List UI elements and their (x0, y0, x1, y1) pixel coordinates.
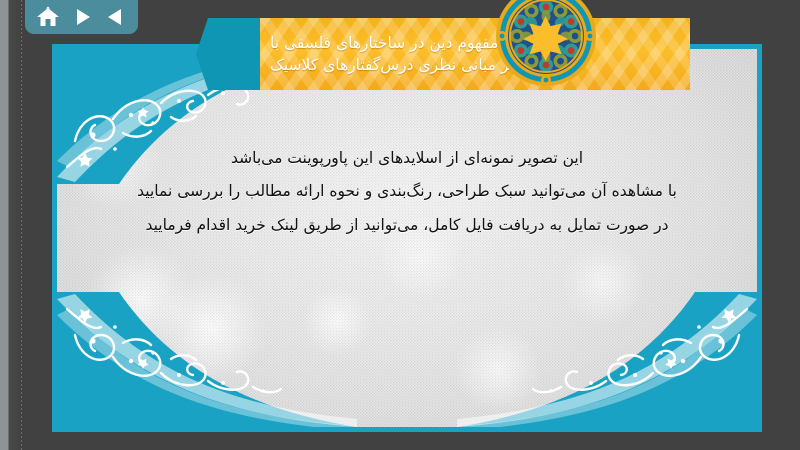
home-icon (36, 6, 60, 28)
frame-divider (21, 0, 22, 450)
body-line-3: در صورت تمایل به دریافت فایل کامل، می‌تو… (145, 211, 668, 240)
arabesque-bottom-left (57, 292, 357, 427)
triangle-right-icon (72, 8, 92, 26)
body-line-1: این تصویر نمونه‌ای از اسلایدهای این پاور… (231, 144, 583, 173)
frame-left-edge (0, 0, 22, 450)
previous-slide-button[interactable] (101, 4, 129, 30)
slide-canvas: این تصویر نمونه‌ای از اسلایدهای این پاور… (57, 49, 757, 427)
slide-body-text: این تصویر نمونه‌ای از اسلایدهای این پاور… (87, 144, 727, 240)
triangle-left-icon (105, 8, 125, 26)
slide-card: این تصویر نمونه‌ای از اسلایدهای این پاور… (52, 44, 762, 432)
arabesque-bottom-right (457, 292, 757, 427)
navigation-bar (25, 0, 138, 34)
title-banner-group: تحلیل مفهوم دین در ساختارهای فلسفی با تم… (196, 18, 756, 90)
slide-title-banner: تحلیل مفهوم دین در ساختارهای فلسفی با تم… (260, 18, 690, 90)
islamic-star-medallion-icon (494, 0, 598, 88)
body-line-2: با مشاهده آن می‌توانید سبک طراحی، رنگ‌بن… (137, 177, 677, 206)
banner-arrow-tab (196, 18, 264, 90)
home-button[interactable] (34, 4, 62, 30)
next-slide-button[interactable] (68, 4, 96, 30)
slide-viewer: این تصویر نمونه‌ای از اسلایدهای این پاور… (0, 0, 800, 450)
